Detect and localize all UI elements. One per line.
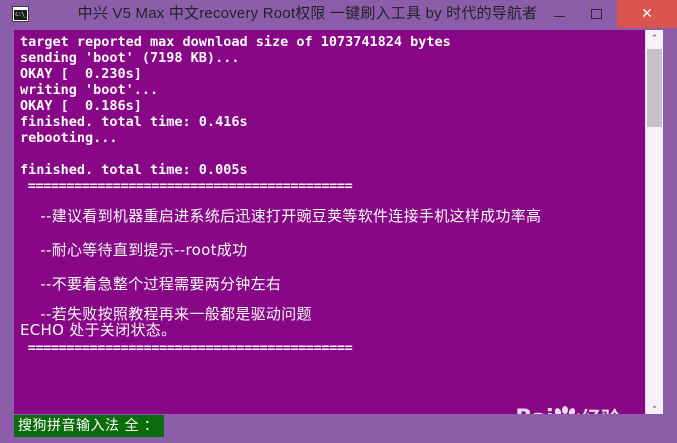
- console-line: ========================================…: [20, 178, 352, 194]
- console-line: OKAY [ 0.230s]: [20, 66, 142, 82]
- console-line: sending 'boot' (7198 KB)...: [20, 50, 239, 66]
- console-output[interactable]: target reported max download size of 107…: [14, 30, 645, 414]
- console-line: ========================================…: [20, 340, 352, 356]
- scroll-down-icon[interactable]: ⌄: [646, 397, 663, 414]
- application-window: c:\_ 中兴 V5 Max 中文recovery Root权限 一键刷入工具 …: [0, 0, 677, 443]
- console-line: rebooting...: [20, 130, 118, 146]
- console-line: OKAY [ 0.186s]: [20, 98, 142, 114]
- console-line: writing 'boot'...: [20, 82, 158, 98]
- console-line: finished. total time: 0.416s: [20, 114, 248, 130]
- console-line: --建议看到机器重启进系统后迅速打开豌豆荚等软件连接手机这样成功率高: [20, 208, 541, 224]
- console-scrollbar[interactable]: ⌃ ⌄: [645, 30, 663, 414]
- console-line: --不要着急整个过程需要两分钟左右: [20, 276, 281, 292]
- scrollbar-thumb[interactable]: [647, 49, 662, 127]
- close-icon: ✕: [641, 6, 653, 22]
- maximize-button[interactable]: [579, 0, 613, 28]
- scroll-up-icon[interactable]: ⌃: [646, 30, 663, 47]
- console-line: ECHO 处于关闭状态。: [20, 322, 176, 338]
- minimize-icon: [554, 16, 565, 17]
- console-line: finished. total time: 0.005s: [20, 162, 248, 178]
- console-region: target reported max download size of 107…: [14, 30, 663, 414]
- ime-status-bar[interactable]: 搜狗拼音输入法 全 ：: [14, 415, 164, 437]
- minimize-button[interactable]: [542, 0, 576, 28]
- close-button[interactable]: ✕: [617, 0, 677, 28]
- console-line: --耐心等待直到提示--root成功: [20, 242, 247, 258]
- console-line: --若失败按照教程再来一般都是驱动问题: [20, 306, 312, 322]
- maximize-icon: [591, 9, 602, 19]
- console-line: target reported max download size of 107…: [20, 34, 451, 50]
- title-bar: c:\_ 中兴 V5 Max 中文recovery Root权限 一键刷入工具 …: [0, 0, 677, 28]
